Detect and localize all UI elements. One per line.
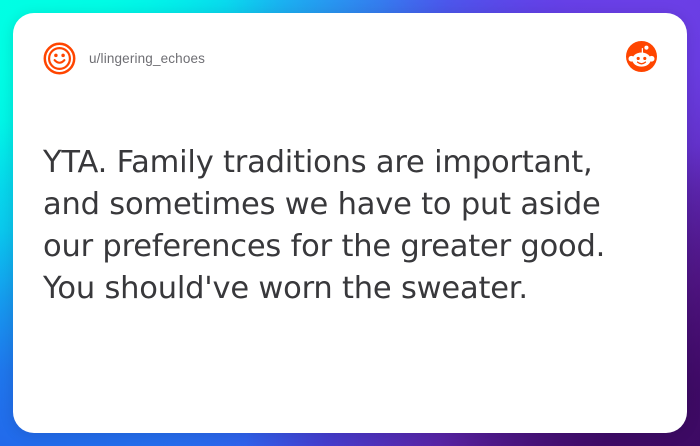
screenshot-root: u/lingering_echoes YTA. Family tradition… (0, 0, 700, 446)
post-body-text: YTA. Family traditions are important, an… (43, 142, 657, 310)
smiley-face-icon[interactable] (43, 42, 76, 75)
reddit-snoo-icon[interactable] (626, 41, 657, 72)
username-label[interactable]: u/lingering_echoes (89, 51, 205, 66)
post-header: u/lingering_echoes (43, 40, 657, 76)
reddit-post-card: u/lingering_echoes YTA. Family tradition… (13, 13, 687, 433)
